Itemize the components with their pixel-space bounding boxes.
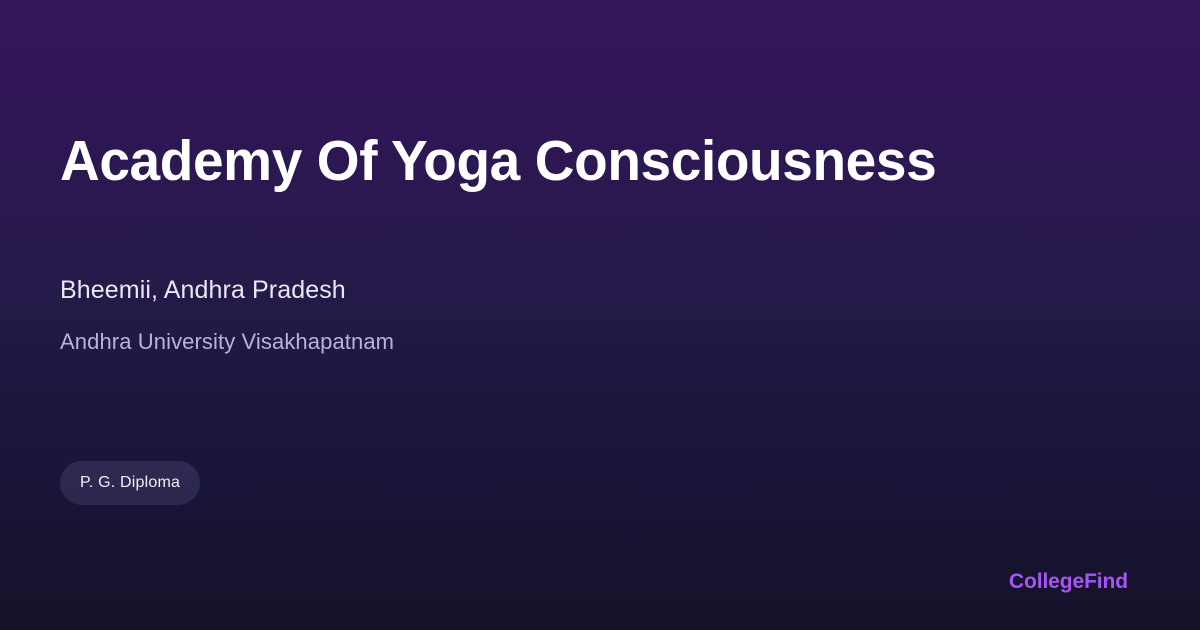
affiliated-university: Andhra University Visakhapatnam — [60, 327, 394, 357]
college-share-card: Academy Of Yoga Consciousness Bheemii, A… — [0, 0, 1200, 630]
card-content: Academy Of Yoga Consciousness Bheemii, A… — [60, 0, 1140, 630]
college-location: Bheemii, Andhra Pradesh — [60, 273, 346, 307]
badge-list: P. G. Diploma — [60, 461, 200, 505]
brand-logo: CollegeFind — [1009, 569, 1128, 595]
page-title: Academy Of Yoga Consciousness — [60, 126, 936, 196]
status-badge: P. G. Diploma — [60, 461, 200, 505]
